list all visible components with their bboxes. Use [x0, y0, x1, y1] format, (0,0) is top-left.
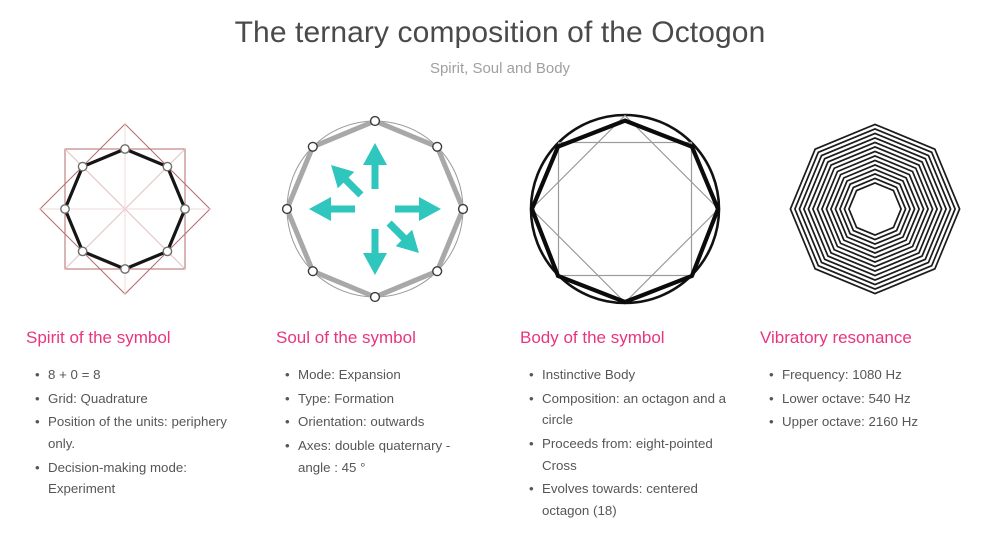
list-item-text: Instinctive Body: [542, 367, 635, 382]
column-list-resonance: •Frequency: 1080 Hz •Lower octave: 540 H…: [760, 364, 982, 433]
list-item: •Evolves towards: centered octagon (18): [542, 478, 732, 521]
column-heading-spirit: Spirit of the symbol: [26, 328, 232, 348]
bullet-icon: •: [35, 388, 40, 410]
list-item: •Type: Formation: [298, 388, 482, 410]
bullet-icon: •: [529, 388, 534, 410]
list-item: •Frequency: 1080 Hz: [782, 364, 982, 386]
column-heading-resonance: Vibratory resonance: [760, 328, 982, 348]
list-item-text: Position of the units: periphery only.: [48, 414, 227, 451]
list-item-text: Proceeds from: eight-pointed Cross: [542, 436, 713, 473]
list-item: •Grid: Quadrature: [48, 388, 232, 410]
bullet-icon: •: [769, 388, 774, 410]
list-item: •Axes: double quaternary - angle : 45 °: [298, 435, 482, 478]
spirit-figure: [25, 109, 225, 309]
list-item-text: Evolves towards: centered octagon (18): [542, 481, 698, 518]
column-soul: Soul of the symbol •Mode: Expansion •Typ…: [250, 328, 500, 523]
bullet-icon: •: [35, 411, 40, 433]
bullet-icon: •: [529, 433, 534, 455]
bullet-icon: •: [769, 364, 774, 386]
column-resonance: Vibratory resonance •Frequency: 1080 Hz …: [750, 328, 1000, 523]
figure-cell-body: [500, 104, 750, 314]
bullet-icon: •: [285, 411, 290, 433]
bullet-icon: •: [285, 435, 290, 457]
list-item: •Proceeds from: eight-pointed Cross: [542, 433, 732, 476]
list-item-text: Composition: an octagon and a circle: [542, 391, 726, 428]
column-list-soul: •Mode: Expansion •Type: Formation •Orien…: [276, 364, 482, 478]
column-heading-soul: Soul of the symbol: [276, 328, 482, 348]
figure-cell-spirit: [0, 104, 250, 314]
list-item-text: Axes: double quaternary - angle : 45 °: [298, 438, 450, 475]
list-item-text: 8 + 0 = 8: [48, 367, 101, 382]
list-item: •Lower octave: 540 Hz: [782, 388, 982, 410]
list-item: •Decision-making mode: Experiment: [48, 457, 232, 500]
page-subtitle: Spirit, Soul and Body: [0, 50, 1000, 77]
list-item-text: Decision-making mode: Experiment: [48, 460, 187, 497]
column-list-spirit: •8 + 0 = 8 •Grid: Quadrature •Position o…: [26, 364, 232, 499]
list-item: •Upper octave: 2160 Hz: [782, 411, 982, 433]
list-item: •Composition: an octagon and a circle: [542, 388, 732, 431]
list-item: •Instinctive Body: [542, 364, 732, 386]
list-item-text: Grid: Quadrature: [48, 391, 148, 406]
bullet-icon: •: [35, 364, 40, 386]
column-list-body: •Instinctive Body •Composition: an octag…: [520, 364, 732, 521]
body-figure: [525, 109, 725, 309]
column-heading-body: Body of the symbol: [520, 328, 732, 348]
resonance-figure: [785, 119, 965, 299]
figures-row: [0, 104, 1000, 314]
bullet-icon: •: [529, 478, 534, 500]
outward-arrows: [309, 143, 441, 275]
bullet-icon: •: [285, 364, 290, 386]
figure-cell-soul: [250, 104, 500, 314]
list-item: •Mode: Expansion: [298, 364, 482, 386]
list-item: •8 + 0 = 8: [48, 364, 232, 386]
list-item-text: Type: Formation: [298, 391, 394, 406]
column-body: Body of the symbol •Instinctive Body •Co…: [500, 328, 750, 523]
soul-figure: [275, 109, 475, 309]
list-item-text: Orientation: outwards: [298, 414, 424, 429]
list-item-text: Frequency: 1080 Hz: [782, 367, 902, 382]
figure-cell-resonance: [750, 104, 1000, 314]
column-spirit: Spirit of the symbol •8 + 0 = 8 •Grid: Q…: [0, 328, 250, 523]
page-title: The ternary composition of the Octogon: [0, 0, 1000, 50]
list-item-text: Mode: Expansion: [298, 367, 401, 382]
bullet-icon: •: [529, 364, 534, 386]
list-item: •Orientation: outwards: [298, 411, 482, 433]
slide-root: The ternary composition of the Octogon S…: [0, 0, 1000, 548]
list-item-text: Upper octave: 2160 Hz: [782, 414, 918, 429]
bullet-icon: •: [35, 457, 40, 479]
text-columns: Spirit of the symbol •8 + 0 = 8 •Grid: Q…: [0, 328, 1000, 523]
list-item-text: Lower octave: 540 Hz: [782, 391, 911, 406]
bullet-icon: •: [285, 388, 290, 410]
bullet-icon: •: [769, 411, 774, 433]
list-item: •Position of the units: periphery only.: [48, 411, 232, 454]
